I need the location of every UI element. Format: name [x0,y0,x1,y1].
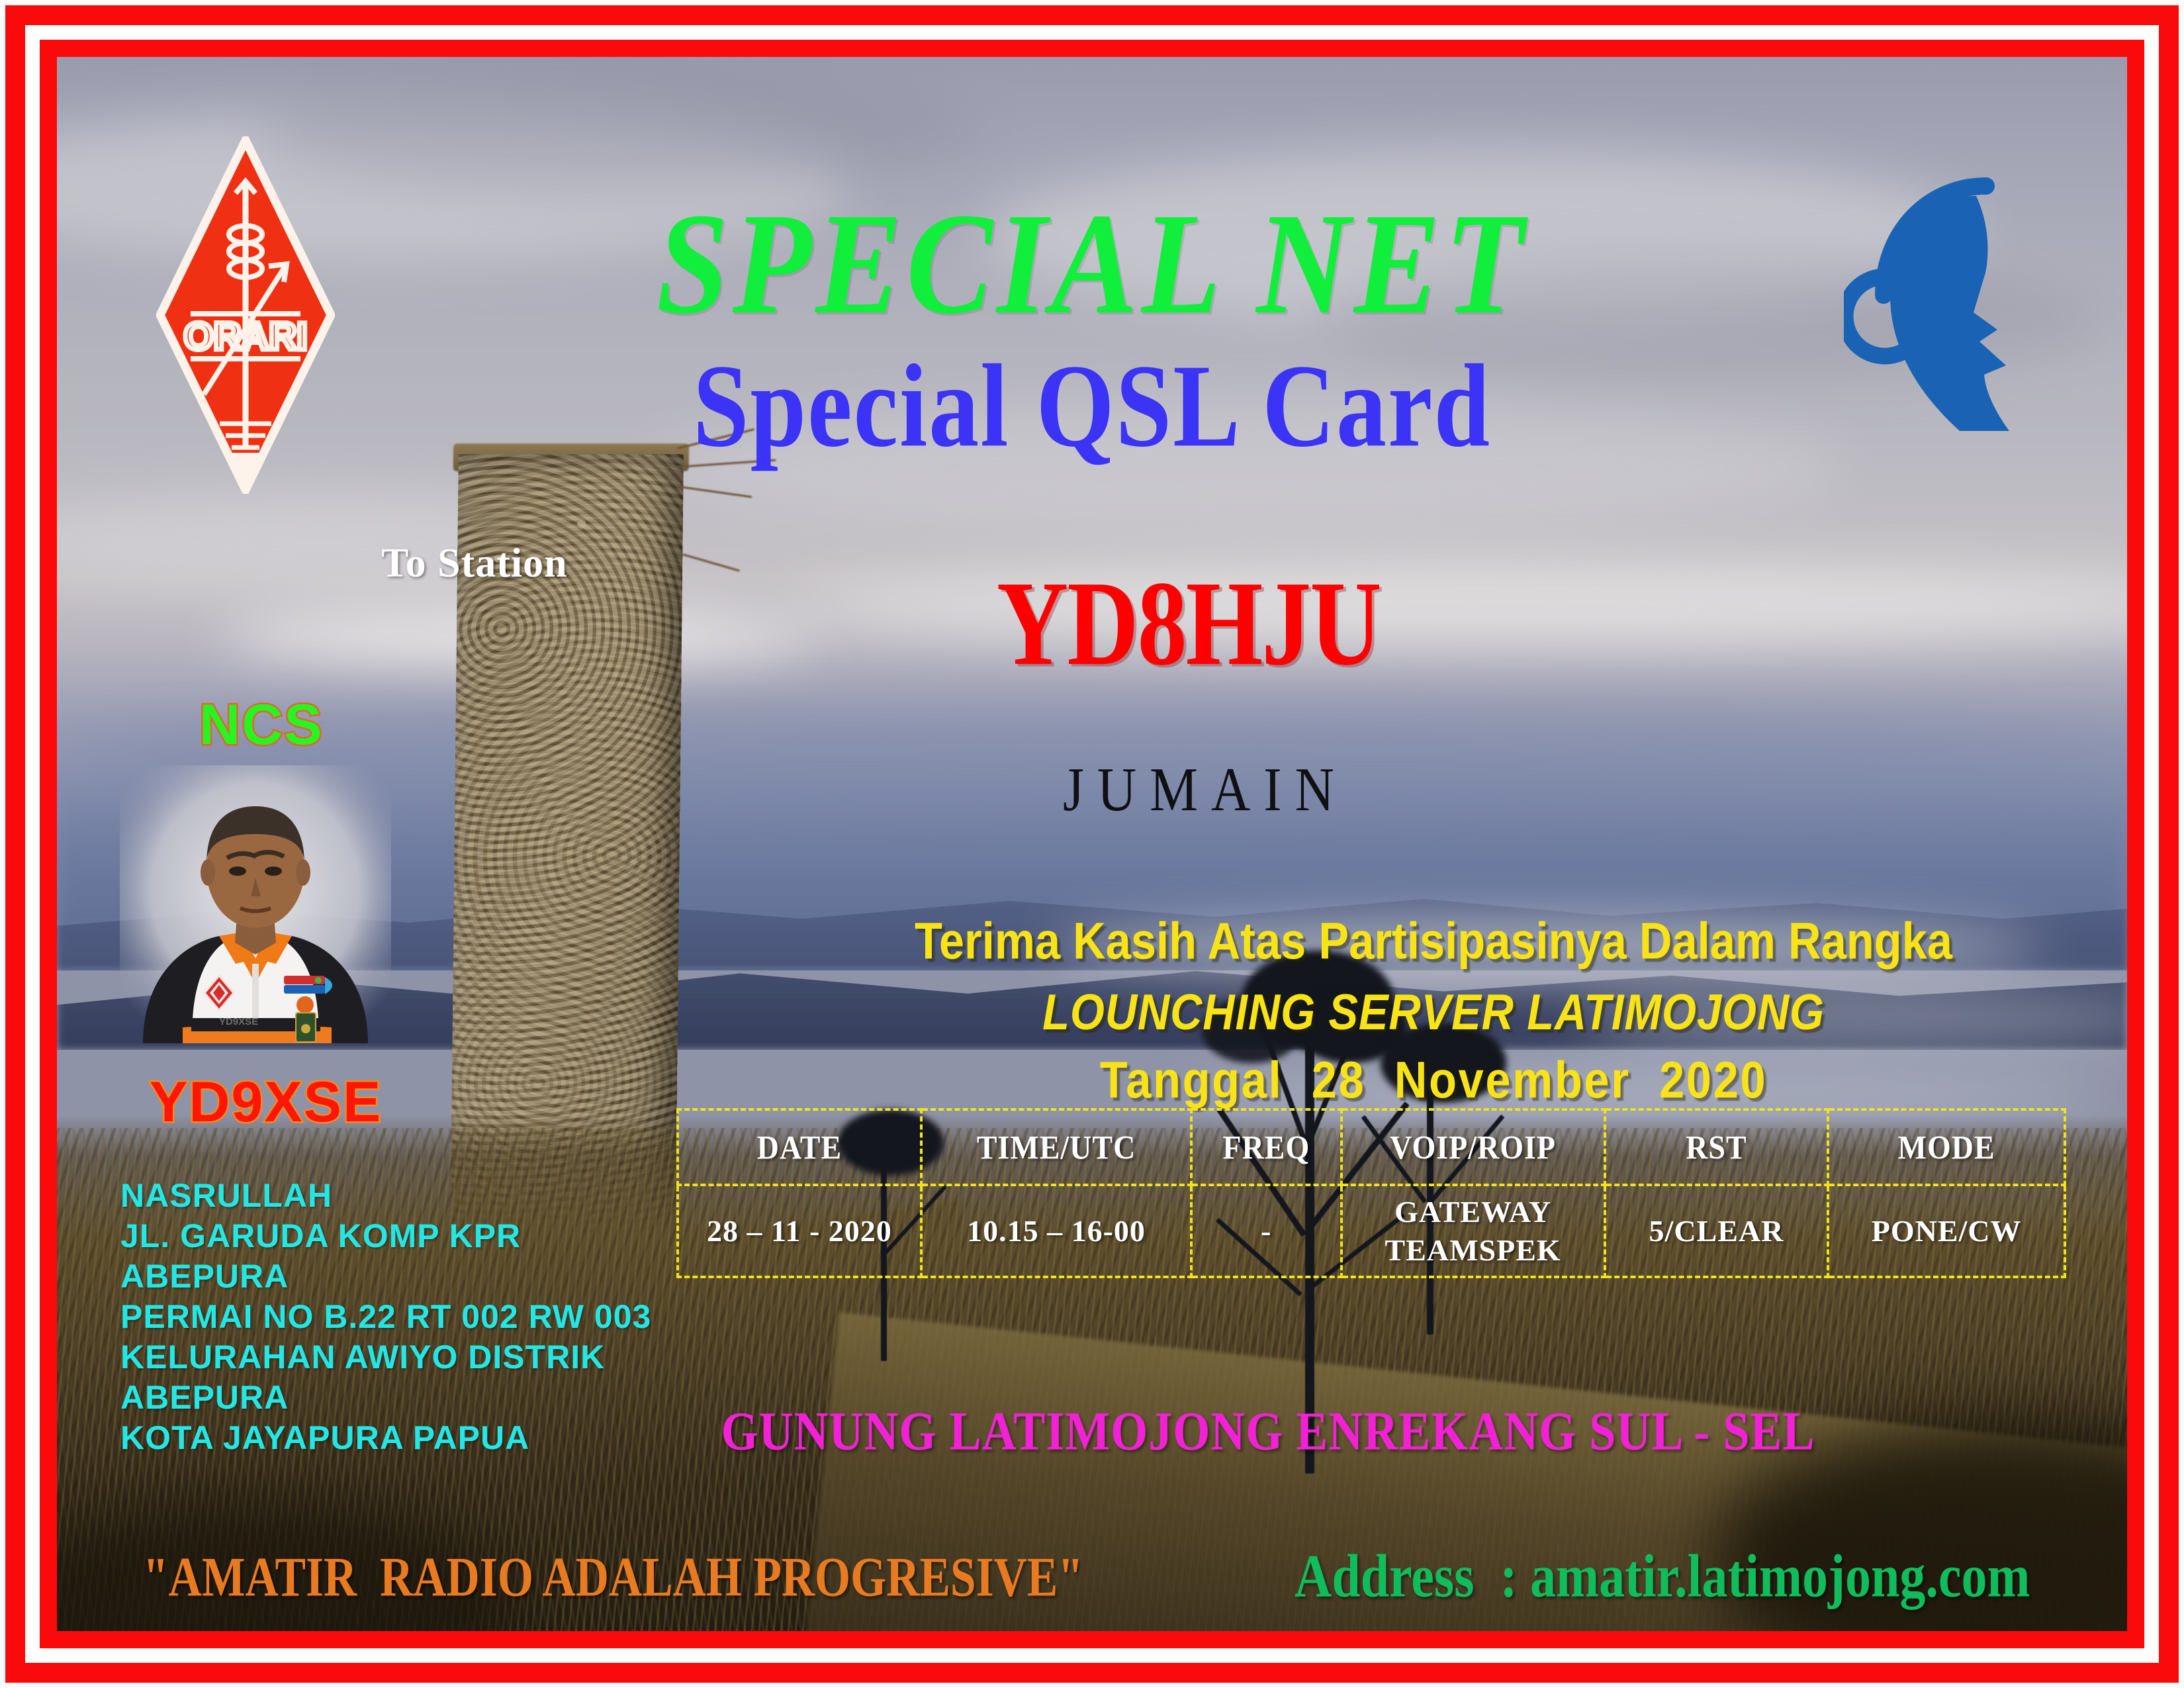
qsl-card: ORARI [0,0,2184,1688]
outer-red-border [5,5,2179,1683]
